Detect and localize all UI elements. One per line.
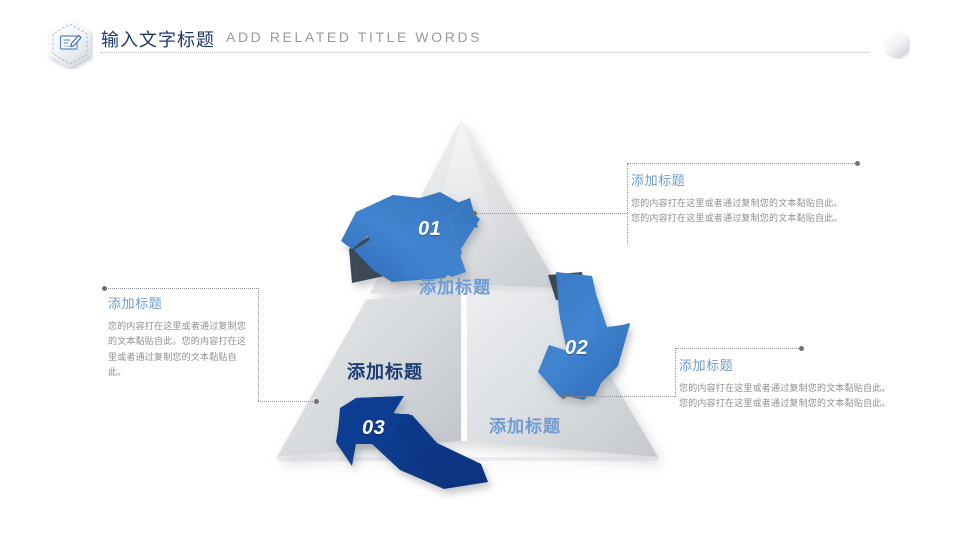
callout-border-left-right: [258, 288, 259, 401]
connector-line-top-right: [474, 213, 627, 214]
connector-line-left: [258, 401, 317, 402]
callout-border-top-right-left: [627, 163, 628, 245]
pyramid-diagram: 添加标题 添加标题 添加标题 01 02 03 添加标题 您的内容打在这里或者通…: [0, 0, 960, 540]
pyramid-graphic: [0, 0, 960, 540]
callout-border-bottom-right-top: [675, 348, 803, 349]
arrow-01: [341, 192, 480, 283]
connector-line-bottom-right: [563, 396, 675, 397]
callout-dot-bottom-right: [799, 346, 804, 351]
arrow-number-02: 02: [565, 337, 588, 360]
callout-border-top-right-top: [627, 163, 859, 164]
callout-title: 添加标题: [679, 355, 901, 374]
callout-dot-top-right: [855, 161, 860, 166]
connector-dot-top-right: [472, 211, 477, 216]
callout-dot-left: [102, 286, 107, 291]
pyramid-label-left: 添加标题: [347, 358, 423, 384]
connector-dot-left: [314, 399, 319, 404]
callout-border-bottom-right-left: [675, 348, 676, 397]
pyramid-label-right: 添加标题: [489, 412, 561, 437]
callout-body: 您的内容打在这里或者通过复制您的文本黏贴自此。您的内容打在这里或者通过复制您的文…: [108, 319, 246, 381]
callout-border-left-top: [104, 288, 259, 289]
callout-left: 添加标题 您的内容打在这里或者通过复制您的文本黏贴自此。您的内容打在这里或者通过…: [108, 293, 258, 381]
callout-top-right: 添加标题 您的内容打在这里或者通过复制您的文本黏贴自此。您的内容打在这里或者通过…: [631, 170, 857, 227]
callout-body: 您的内容打在这里或者通过复制您的文本黏贴自此。您的内容打在这里或者通过复制您的文…: [631, 196, 849, 227]
arrow-number-01: 01: [418, 218, 441, 241]
pyramid-label-top: 添加标题: [419, 273, 491, 298]
arrow-number-03: 03: [362, 417, 385, 440]
connector-dot-bottom-right: [561, 394, 566, 399]
callout-bottom-right: 添加标题 您的内容打在这里或者通过复制您的文本黏贴自此。您的内容打在这里或者通过…: [679, 355, 901, 412]
callout-body: 您的内容打在这里或者通过复制您的文本黏贴自此。您的内容打在这里或者通过复制您的文…: [679, 381, 891, 412]
callout-title: 添加标题: [631, 170, 857, 189]
callout-title: 添加标题: [108, 293, 258, 312]
